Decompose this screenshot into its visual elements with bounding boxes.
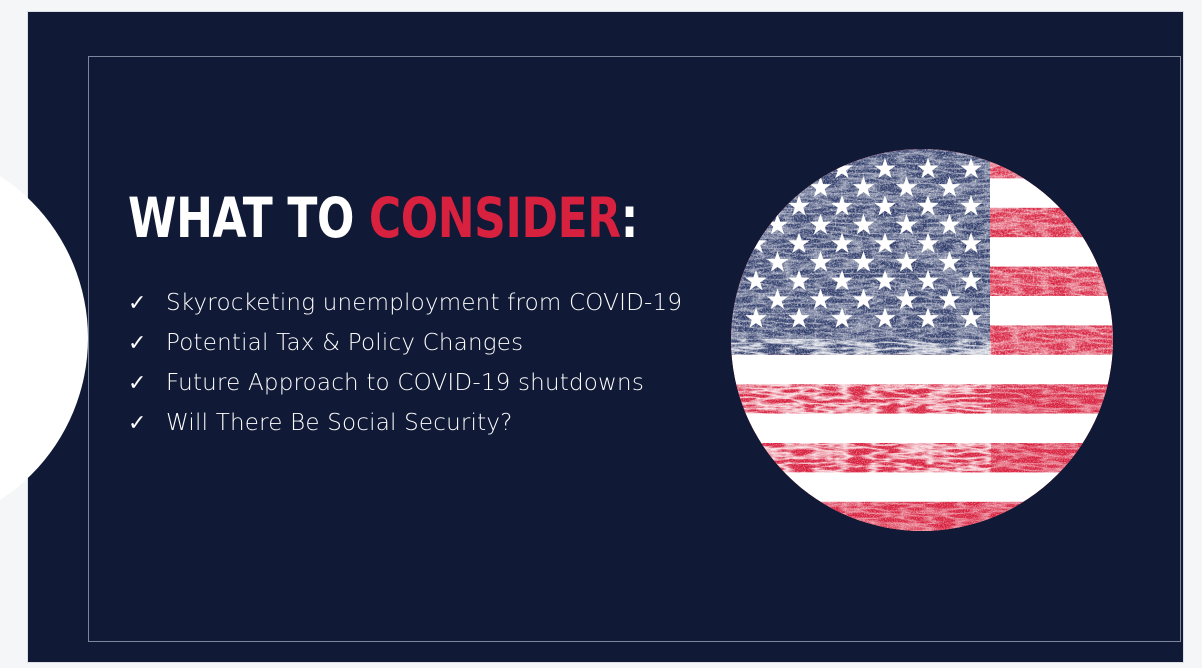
- check-icon: ✓: [128, 293, 166, 315]
- check-icon: ✓: [128, 413, 166, 435]
- list-item: ✓ Future Approach to COVID-19 shutdowns: [128, 370, 708, 397]
- consideration-list: ✓ Skyrocketing unemployment from COVID-1…: [128, 290, 708, 438]
- check-icon: ✓: [128, 333, 166, 355]
- list-item-label: Future Approach to COVID-19 shutdowns: [166, 370, 644, 397]
- title-accent: CONSIDER: [369, 186, 621, 250]
- slide-root: WHAT TO CONSIDER: ✓ Skyrocketing unemplo…: [0, 0, 1202, 668]
- usa-flag-graphic: [731, 149, 1113, 531]
- list-item-label: Potential Tax & Policy Changes: [166, 330, 523, 357]
- list-item-label: Skyrocketing unemployment from COVID-19: [166, 290, 682, 317]
- check-icon: ✓: [128, 373, 166, 395]
- slide-content: WHAT TO CONSIDER: ✓ Skyrocketing unemplo…: [128, 190, 708, 437]
- list-item: ✓ Skyrocketing unemployment from COVID-1…: [128, 290, 708, 317]
- page-title: WHAT TO CONSIDER:: [128, 190, 592, 248]
- list-item: ✓ Will There Be Social Security?: [128, 410, 708, 437]
- usa-flag-circle: [731, 149, 1113, 531]
- list-item-label: Will There Be Social Security?: [166, 410, 513, 437]
- title-colon: :: [621, 186, 638, 250]
- flag-scratches: [731, 149, 1113, 531]
- title-lead: WHAT TO: [128, 186, 369, 250]
- list-item: ✓ Potential Tax & Policy Changes: [128, 330, 708, 357]
